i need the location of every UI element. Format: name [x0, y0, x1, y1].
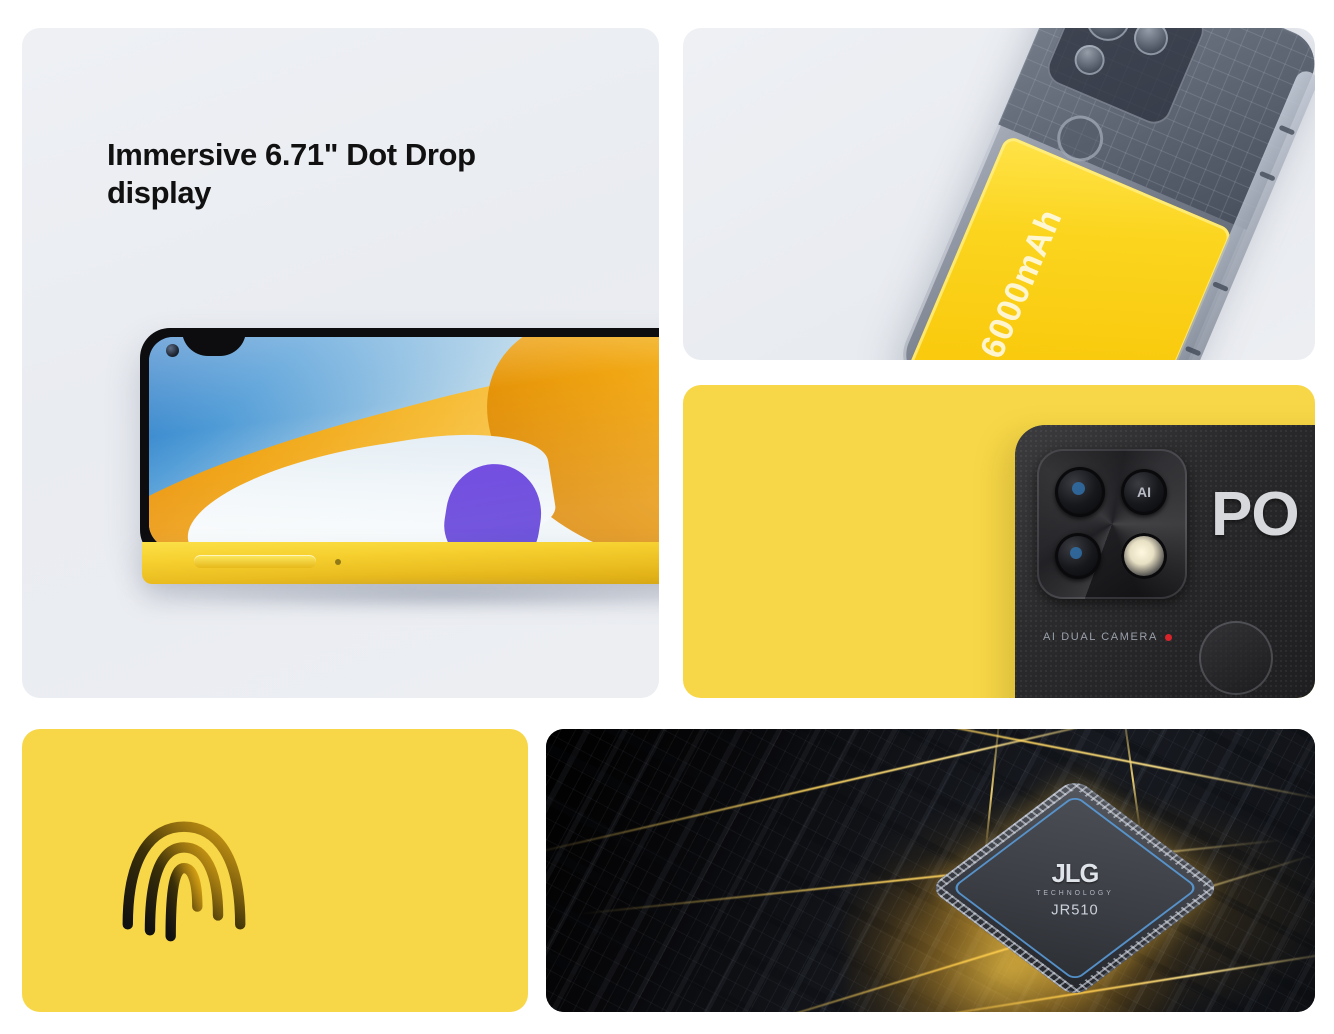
phone-drop-shadow — [164, 580, 659, 610]
screen-sheen-overlay — [149, 337, 659, 548]
phone-screen-body — [140, 328, 659, 560]
indicator-dot-icon — [1165, 634, 1172, 641]
power-button — [194, 555, 316, 568]
display-headline: Immersive 6.71" Dot Drop display — [107, 136, 587, 212]
port-icon — [1279, 125, 1296, 136]
ai-lens-label: AI — [1121, 469, 1167, 515]
xray-phone-illustration: 6000mAh — [856, 28, 1315, 360]
fingerprint-icon — [110, 803, 258, 951]
camera-feature-card[interactable]: AI PO AI DUAL CAMERA D 13MP dual camera — [683, 385, 1315, 698]
chip-label-group: JLG TECHNOLOGY JR510 — [986, 799, 1164, 977]
battery-cell-label: 6000mAh — [957, 166, 1087, 360]
xray-lens-icon — [1070, 40, 1109, 79]
ai-lens-icon: AI — [1121, 469, 1167, 515]
port-icon — [1259, 171, 1276, 182]
chip-model-text: JR510 — [1052, 901, 1099, 918]
xray-lens-icon — [1129, 28, 1174, 61]
circuit-board-background: JLG TECHNOLOGY JR510 — [546, 729, 1315, 1012]
flash-icon — [1121, 533, 1167, 579]
processor-feature-card[interactable]: JLG TECHNOLOGY JR510 High-performance oc… — [546, 729, 1315, 1012]
phone-front-illustration — [140, 328, 659, 628]
camera-module-caption: AI DUAL CAMERA — [1043, 631, 1172, 643]
lens-glint — [1070, 547, 1082, 559]
depth-lens-icon — [1055, 533, 1101, 579]
rear-fingerprint-ring-icon — [1199, 621, 1273, 695]
main-lens-icon — [1055, 467, 1105, 517]
front-camera-icon — [166, 344, 179, 357]
display-feature-card[interactable]: Immersive 6.71" Dot Drop display — [22, 28, 659, 698]
microphone-hole-icon — [335, 559, 341, 565]
fingerprint-feature-card[interactable]: Rear fingerprint sensor — [22, 729, 528, 1012]
port-icon — [1212, 281, 1229, 292]
rear-camera-module: AI — [1037, 449, 1187, 599]
port-icon — [1185, 346, 1202, 357]
chip-logo-text: JLG — [1052, 858, 1099, 888]
chip-sublabel-text: TECHNOLOGY — [1037, 889, 1114, 896]
camera-caption-text: AI DUAL CAMERA — [1043, 631, 1158, 643]
phone-rear-illustration: AI PO AI DUAL CAMERA D — [1015, 425, 1315, 698]
phone-brand-text: PO — [1211, 479, 1299, 550]
phone-wallpaper — [149, 337, 659, 548]
lens-glint — [1072, 482, 1085, 495]
feature-grid-page: Immersive 6.71" Dot Drop display 6000mAh — [0, 0, 1334, 1034]
battery-feature-card[interactable]: 6000mAh 6000mAh (typ) high-capacity batt… — [683, 28, 1315, 360]
phone-yellow-frame — [142, 542, 659, 584]
